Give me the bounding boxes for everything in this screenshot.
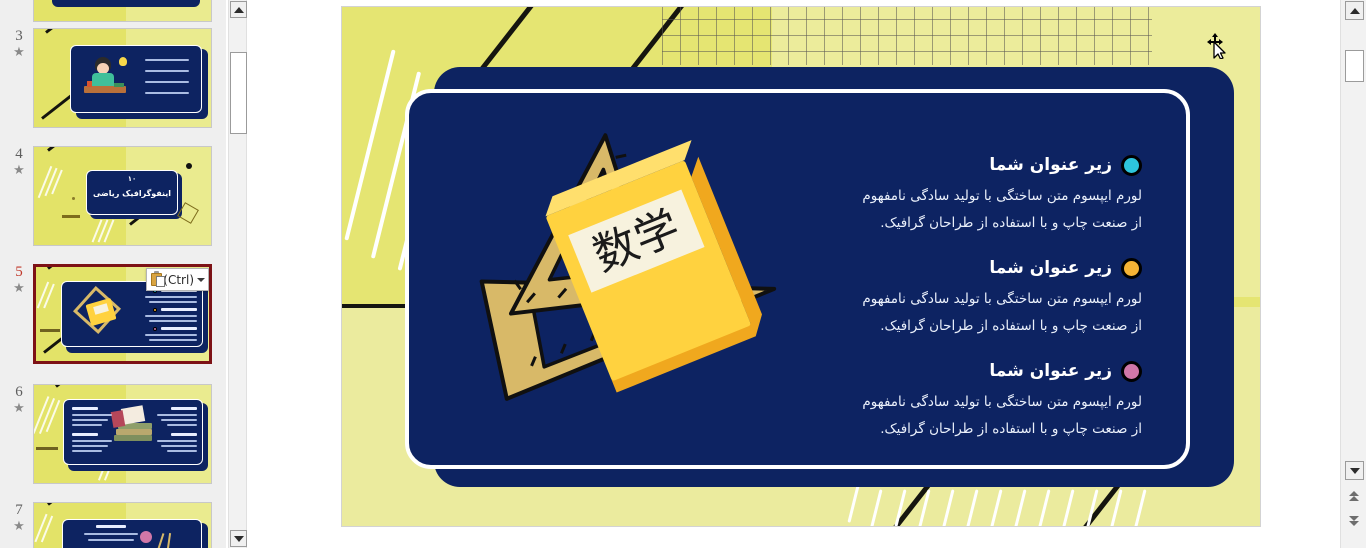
bullet-amber-icon (1121, 258, 1142, 279)
bullet-body-line-1: لورم ایپسوم متن ساختگی با تولید سادگی نا… (766, 183, 1142, 209)
triangle-down-icon (1350, 468, 1360, 474)
paste-options-label: (Ctrl) (163, 274, 194, 286)
thumbnail-scrollbar[interactable] (228, 0, 247, 548)
bullet-text-column[interactable]: زیر عنوان شما لورم ایپسوم متن ساختگی با … (762, 155, 1142, 464)
scroll-up-button[interactable] (1345, 1, 1364, 20)
thumbnail-scrollbar-thumb[interactable] (230, 52, 247, 134)
slide-thumbnail-3[interactable] (33, 28, 212, 128)
slide-number: 6 (8, 384, 30, 401)
slide-thumbnail-7[interactable] (33, 502, 212, 548)
slide-number: 7 (8, 502, 30, 519)
slide-edit-area[interactable]: 数学 زیر عنوان شما لورم ایپسوم متن ساختگی … (249, 0, 1340, 548)
decor-grid-texture (662, 6, 1152, 65)
bullet-block-1[interactable]: زیر عنوان شما لورم ایپسوم متن ساختگی با … (762, 155, 1142, 236)
slide-number: 3 (8, 28, 30, 45)
bullet-body-line-2: از صنعت چاپ و با استفاده از طراحان گرافی… (766, 313, 1142, 339)
triangle-up-icon (234, 7, 244, 13)
slide-canvas[interactable]: 数学 زیر عنوان شما لورم ایپسوم متن ساختگی … (341, 6, 1261, 527)
slide-thumbnail-6[interactable] (33, 384, 212, 484)
slide-star-icon: ★ (8, 402, 30, 415)
bullet-cyan-icon (1121, 155, 1142, 176)
bullet-block-2[interactable]: زیر عنوان شما لورم ایپسوم متن ساختگی با … (762, 258, 1142, 339)
bullet-heading: زیر عنوان شما (762, 258, 1142, 278)
bullet-body-line-1: لورم ایپسوم متن ساختگی با تولید سادگی نا… (766, 286, 1142, 312)
slide-thumbnail-pane[interactable]: 3 ★ (0, 0, 226, 548)
powerpoint-window: 3 ★ (0, 0, 1366, 548)
clipboard-icon (150, 271, 161, 288)
slide-star-icon: ★ (8, 46, 30, 59)
slide-number: 4 (8, 146, 30, 163)
slide-vertical-scrollbar[interactable] (1340, 0, 1366, 548)
slide-star-icon: ★ (8, 164, 30, 177)
triangle-down-icon (234, 536, 244, 542)
content-card[interactable]: 数学 زیر عنوان شما لورم ایپسوم متن ساختگی … (405, 89, 1190, 469)
double-arrow-down-icon (1349, 515, 1360, 527)
scroll-down-button[interactable] (1345, 461, 1364, 480)
next-slide-button[interactable] (1347, 513, 1362, 528)
paste-options-button[interactable]: (Ctrl) (146, 268, 209, 291)
double-arrow-up-icon (1349, 491, 1360, 503)
triangle-up-icon (1350, 8, 1360, 14)
slide-thumbnail-4[interactable]: ۱۰ اینفوگرافیک ریاضی (33, 146, 212, 246)
slide-star-icon: ★ (8, 282, 30, 295)
move-cursor (1207, 33, 1229, 59)
thumbnail-scroll-down-button[interactable] (230, 530, 247, 547)
bullet-body: لورم ایپسوم متن ساختگی با تولید سادگی نا… (762, 286, 1142, 339)
bullet-body-line-2: از صنعت چاپ و با استفاده از طراحان گرافی… (766, 416, 1142, 442)
bullet-heading: زیر عنوان شما (762, 361, 1142, 381)
mini-title-number: ۱۰ (86, 175, 178, 183)
bullet-body: لورم ایپسوم متن ساختگی با تولید سادگی نا… (762, 183, 1142, 236)
chevron-down-icon[interactable] (197, 278, 205, 282)
decor-white-line (344, 49, 395, 240)
previous-slide-button[interactable] (1347, 489, 1362, 504)
scrollbar-thumb[interactable] (1345, 50, 1364, 82)
bullet-body-line-1: لورم ایپسوم متن ساختگی با تولید سادگی نا… (766, 389, 1142, 415)
bullet-pink-icon (1121, 361, 1142, 382)
bullet-body: لورم ایپسوم متن ساختگی با تولید سادگی نا… (762, 389, 1142, 442)
bullet-heading: زیر عنوان شما (762, 155, 1142, 175)
thumbnail-scroll-up-button[interactable] (230, 1, 247, 18)
slide-number: 5 (8, 264, 30, 281)
mini-title: اینفوگرافیک ریاضی (86, 189, 178, 198)
slide-star-icon: ★ (8, 520, 30, 533)
bullet-body-line-2: از صنعت چاپ و با استفاده از طراحان گرافی… (766, 210, 1142, 236)
bullet-block-3[interactable]: زیر عنوان شما لورم ایپسوم متن ساختگی با … (762, 361, 1142, 442)
slide-thumbnail[interactable] (33, 0, 212, 22)
